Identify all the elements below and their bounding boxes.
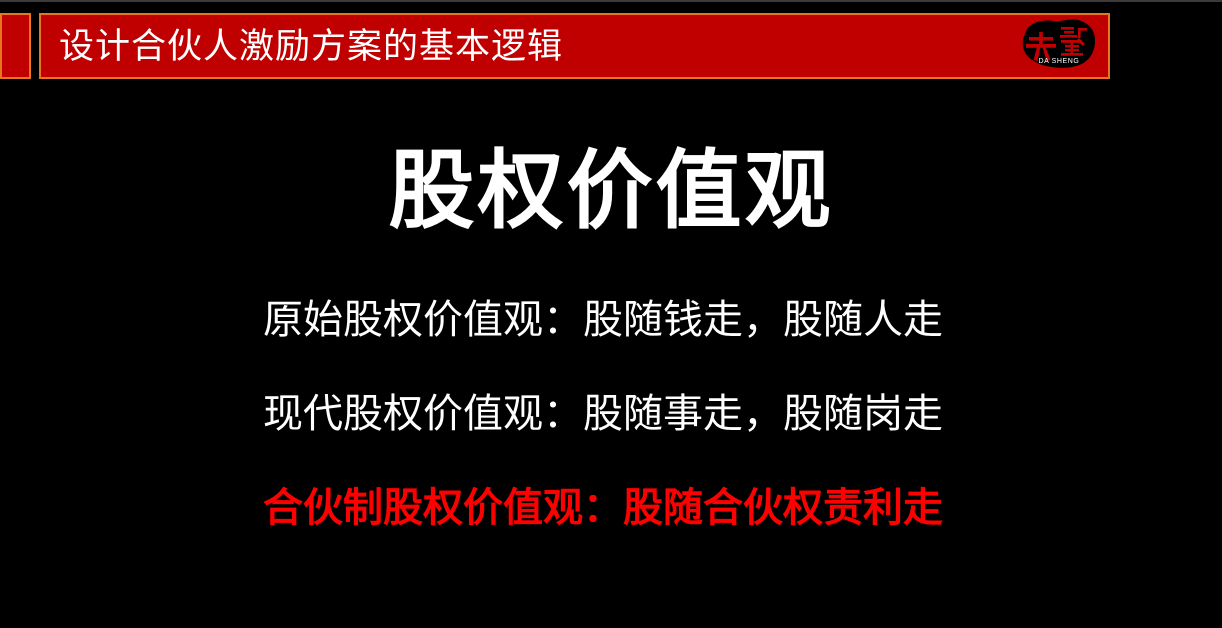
header-tab-marker	[0, 13, 31, 79]
logo-wordmark: DA SHENG	[1039, 58, 1080, 65]
top-edge-hairline	[0, 0, 1222, 2]
slide-canvas: 设计合伙人激励方案的基本逻辑	[0, 0, 1222, 628]
slide-header: 设计合伙人激励方案的基本逻辑	[0, 13, 1112, 81]
body-line-original: 原始股权价值观：股随钱走，股随人走	[263, 300, 1163, 340]
body-line-modern: 现代股权价值观：股随事走，股随岗走	[263, 394, 1163, 434]
header-title-bar: 设计合伙人激励方案的基本逻辑	[39, 13, 1110, 79]
dasheng-logo-svg: DA SHENG	[1016, 16, 1102, 74]
body-line-partnership: 合伙制股权价值观：股随合伙权责利走	[263, 488, 1163, 528]
body-line-list: 原始股权价值观：股随钱走，股随人走 现代股权价值观：股随事走，股随岗走 合伙制股…	[263, 300, 1163, 528]
dasheng-logo: DA SHENG	[1016, 16, 1102, 74]
page-title: 股权价值观	[0, 148, 1222, 234]
header-title-text: 设计合伙人激励方案的基本逻辑	[59, 29, 563, 64]
